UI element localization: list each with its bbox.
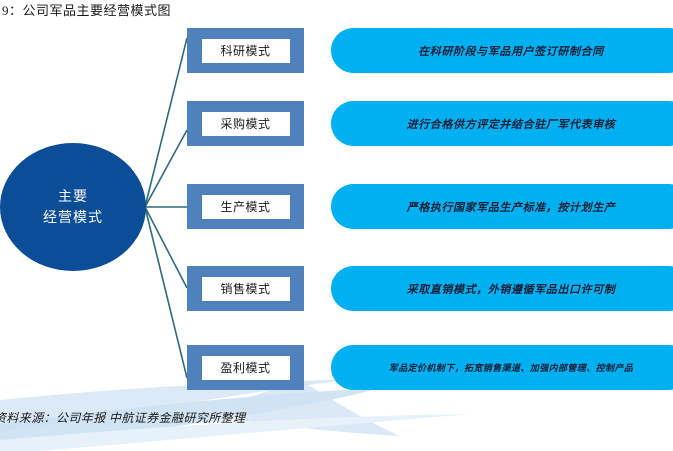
mode-label-3: 生产模式 xyxy=(202,195,290,219)
page-title: 9：公司军品主要经营模式图 xyxy=(2,0,171,19)
description-text-4: 采取直销模式，外销遵循军品出口许可制 xyxy=(407,281,616,297)
connector-line-2 xyxy=(145,130,187,207)
hub-label-line1: 主要 xyxy=(58,186,88,207)
connector-line-4 xyxy=(145,207,187,288)
connector-line-1 xyxy=(145,38,187,207)
hub-ellipse: 主要 经营模式 xyxy=(0,143,146,271)
description-text-2: 进行合格供方评定并结合驻厂军代表审核 xyxy=(407,116,616,132)
description-bar-5[interactable]: 军品定价机制下，拓宽销售渠道、加强内部管理、控制产品 xyxy=(331,345,673,390)
mode-label-4: 销售模式 xyxy=(202,277,290,301)
description-text-1: 在科研阶段与军品用户签订研制合同 xyxy=(418,43,604,59)
connector-line-5 xyxy=(145,207,187,378)
description-bar-1[interactable]: 在科研阶段与军品用户签订研制合同 xyxy=(331,28,673,73)
mode-box-1[interactable]: 科研模式 xyxy=(187,28,304,73)
mode-box-4[interactable]: 销售模式 xyxy=(187,266,304,311)
description-bar-2[interactable]: 进行合格供方评定并结合驻厂军代表审核 xyxy=(331,101,673,146)
hub-label-line2: 经营模式 xyxy=(43,207,103,228)
mode-box-5[interactable]: 盈利模式 xyxy=(187,345,304,390)
description-text-5: 军品定价机制下，拓宽销售渠道、加强内部管理、控制产品 xyxy=(389,361,633,374)
mode-label-2: 采购模式 xyxy=(202,112,290,136)
description-bar-3[interactable]: 严格执行国家军品生产标准，按计划生产 xyxy=(331,184,673,229)
mode-box-2[interactable]: 采购模式 xyxy=(187,101,304,146)
diagram-canvas: 9：公司军品主要经营模式图 主要 经营模式 科研模式 采购模式 生产模式 销售模… xyxy=(0,0,673,451)
mode-label-1: 科研模式 xyxy=(202,39,290,63)
description-bar-4[interactable]: 采取直销模式，外销遵循军品出口许可制 xyxy=(331,266,673,311)
mode-box-3[interactable]: 生产模式 xyxy=(187,184,304,229)
description-text-3: 严格执行国家军品生产标准，按计划生产 xyxy=(407,199,616,215)
mode-label-5: 盈利模式 xyxy=(202,356,290,380)
source-note: 资料来源：公司年报 中航证券金融研究所整理 xyxy=(0,409,245,426)
